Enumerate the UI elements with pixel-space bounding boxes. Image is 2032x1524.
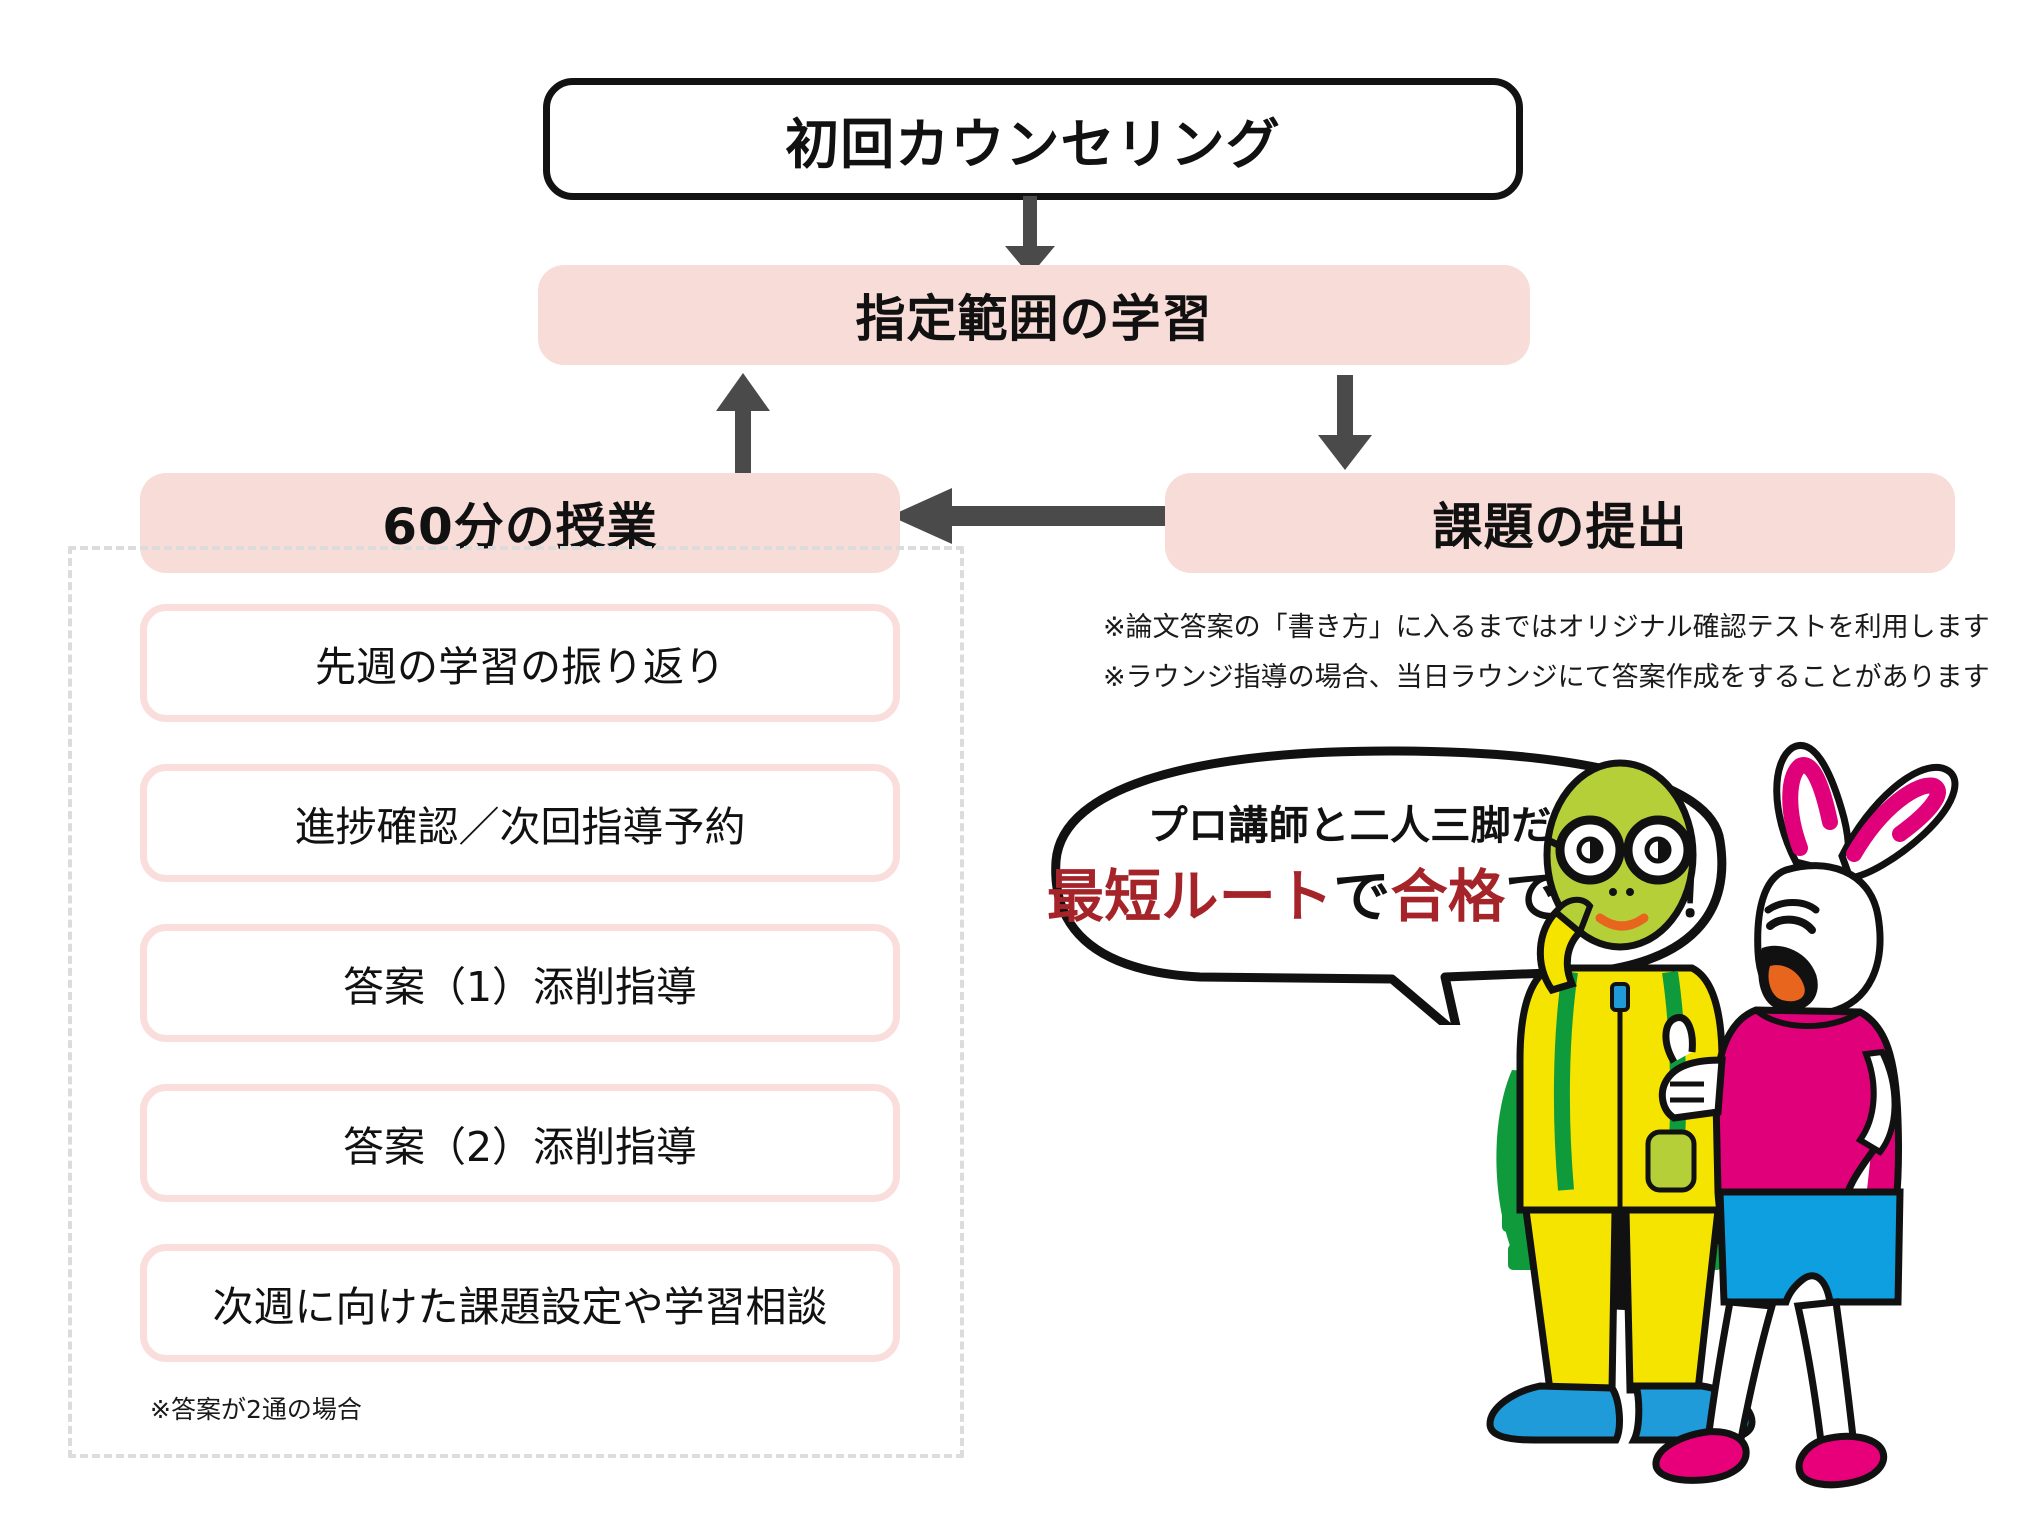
flow-node-initial-counseling-label: 初回カウンセリング [785, 100, 1281, 179]
arrow-down-icon-submit [1310, 375, 1380, 470]
arrow-left-icon [890, 480, 1175, 552]
flow-node-initial-counseling: 初回カウンセリング [543, 78, 1523, 200]
arrow-down-icon-start [995, 196, 1065, 276]
list-item: 先週の学習の振り返り [140, 604, 900, 722]
list-item-label: 次週に向けた課題設定や学習相談 [213, 1273, 828, 1333]
character-illustration [1430, 740, 1990, 1500]
flow-node-designated-study: 指定範囲の学習 [538, 265, 1530, 365]
list-item: 次週に向けた課題設定や学習相談 [140, 1244, 900, 1362]
flow-node-designated-study-label: 指定範囲の学習 [856, 279, 1213, 351]
list-item-label: 答案（1）添削指導 [343, 953, 697, 1013]
note-line-2: ※ラウンジ指導の場合、当日ラウンジにて答案作成をすることがあります [1103, 655, 1990, 694]
speech-bubble-highlight-route: 最短ルート [1047, 864, 1333, 930]
lesson-footnote-label: ※答案が2通の場合 [150, 1395, 362, 1424]
note-line-2-label: ※ラウンジ指導の場合、当日ラウンジにて答案作成をすることがあります [1103, 662, 1990, 693]
lesson-footnote: ※答案が2通の場合 [150, 1390, 362, 1426]
list-item-label: 答案（2）添削指導 [343, 1113, 697, 1173]
diagram-canvas: 初回カウンセリング 指定範囲の学習 60分の授業 課題の提出 先週の学習の振り返… [0, 0, 2032, 1524]
arrow-up-icon [708, 373, 778, 473]
list-item: 答案（2）添削指導 [140, 1084, 900, 1202]
list-item-label: 進捗確認／次回指導予約 [295, 793, 746, 853]
note-line-1-label: ※論文答案の「書き方」に入るまではオリジナル確認テストを利用します [1103, 612, 1990, 643]
list-item: 進捗確認／次回指導予約 [140, 764, 900, 882]
flow-node-assignment-submission-label: 課題の提出 [1433, 487, 1688, 559]
list-item-label: 先週の学習の振り返り [315, 633, 725, 693]
flow-node-assignment-submission: 課題の提出 [1165, 473, 1955, 573]
speech-bubble-connector-de: で [1333, 864, 1390, 930]
list-item: 答案（1）添削指導 [140, 924, 900, 1042]
note-line-1: ※論文答案の「書き方」に入るまではオリジナル確認テストを利用します [1103, 605, 1990, 644]
